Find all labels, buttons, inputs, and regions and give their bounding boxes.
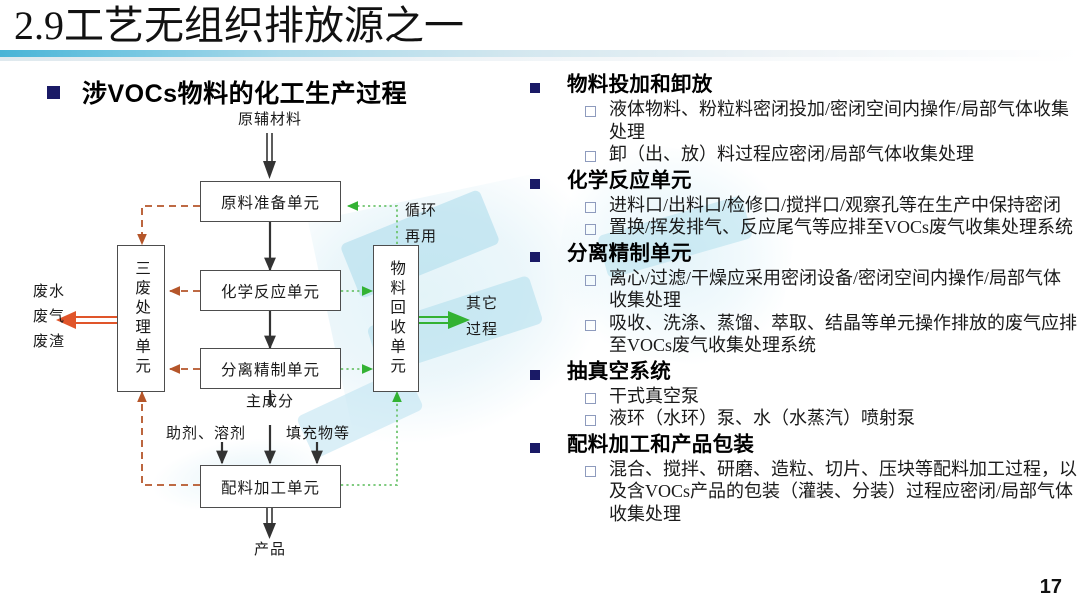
bullet-item-text: 离心/过滤/干燥应采用密闭设备/密闭空间内操作/局部气体收集处理 [609,267,1077,312]
hollow-square-bullet-icon [585,202,596,213]
title-divider [0,50,1080,57]
diagram-box-material-recovery: 物料回收单元 [373,245,419,392]
diagram-label-fillers: 填充物等 [286,425,350,443]
bullet-section-title: 化学反应单元 [567,168,1077,194]
title-divider-shadow [0,57,1080,61]
hollow-square-bullet-icon [585,151,596,162]
diagram-label-waste-residue: 废渣 [33,333,65,351]
bullet-item-text: 进料口/出料口/检修口/搅拌口/观察孔等在生产中保持密闭 [609,194,1077,217]
bullet-item-text: 液体物料、粉粒料密闭投加/密闭空间内操作/局部气体收集处理 [609,98,1077,143]
diagram-box-reaction: 化学反应单元 [200,270,341,311]
square-bullet-icon [530,252,540,262]
diagram-label-recycle-1: 循环 [405,202,437,220]
diagram-label-recycle-2: 再用 [405,228,437,246]
bullet-item: 卸（出、放）料过程应密闭/局部气体收集处理 [563,143,1077,166]
hollow-square-bullet-icon [585,320,596,331]
bullet-item: 置换/挥发排气、反应尾气等应排至VOCs废气收集处理系统 [563,216,1077,239]
diagram-box-separation: 分离精制单元 [200,348,341,389]
square-bullet-icon [530,370,540,380]
bullet-item-text: 混合、搅拌、研磨、造粒、切片、压块等配料加工过程，以及含VOCs产品的包装（灌装… [609,458,1077,526]
hollow-square-bullet-icon [585,275,596,286]
bullet-item-text: 干式真空泵 [609,385,1077,408]
diagram-box-formulation: 配料加工单元 [200,465,341,508]
bullet-item-text: 置换/挥发排气、反应尾气等应排至VOCs废气收集处理系统 [609,216,1077,239]
diagram-box-waste-treatment: 三废处理单元 [117,245,165,392]
diagram-label-waste-gas: 废气 [33,308,65,326]
hollow-square-bullet-icon [585,466,596,477]
diagram-label-input-materials: 原辅材料 [229,111,311,129]
diagram-label-waste-water: 废水 [33,283,65,301]
process-flow-diagram: 原料准备单元 化学反应单元 分离精制单元 配料加工单元 三废处理单元 物料回收单… [0,105,515,575]
slide-root: 2.9工艺无组织排放源之一 涉VOCs物料的化工生产过程 [0,0,1080,607]
bullet-section-2: 化学反应单元 [519,168,1077,194]
hollow-square-bullet-icon [585,415,596,426]
bullet-section-title: 物料投加和卸放 [567,72,1077,98]
diagram-label-product: 产品 [240,541,300,559]
bullet-section-4: 抽真空系统 [519,359,1077,385]
bullet-item-text: 液环（水环）泵、水（水蒸汽）喷射泵 [609,407,1077,430]
bullet-section-title: 分离精制单元 [567,241,1077,267]
bullet-section-5: 配料加工和产品包装 [519,432,1077,458]
bullet-item: 液环（水环）泵、水（水蒸汽）喷射泵 [563,407,1077,430]
bullet-list: 物料投加和卸放 液体物料、粉粒料密闭投加/密闭空间内操作/局部气体收集处理 卸（… [519,70,1077,525]
bullet-section-title: 配料加工和产品包装 [567,432,1077,458]
hollow-square-bullet-icon [585,224,596,235]
bullet-item: 混合、搅拌、研磨、造粒、切片、压块等配料加工过程，以及含VOCs产品的包装（灌装… [563,458,1077,526]
bullet-item-text: 吸收、洗涤、蒸馏、萃取、结晶等单元操作排放的废气应排至VOCs废气收集处理系统 [609,312,1077,357]
bullet-section-3: 分离精制单元 [519,241,1077,267]
bullet-item: 吸收、洗涤、蒸馏、萃取、结晶等单元操作排放的废气应排至VOCs废气收集处理系统 [563,312,1077,357]
bullet-section-title: 抽真空系统 [567,359,1077,385]
page-number: 17 [1040,576,1062,599]
square-bullet-icon [47,86,60,99]
bullet-item: 干式真空泵 [563,385,1077,408]
bullet-item: 进料口/出料口/检修口/搅拌口/观察孔等在生产中保持密闭 [563,194,1077,217]
hollow-square-bullet-icon [585,393,596,404]
bullet-section-1: 物料投加和卸放 [519,72,1077,98]
diagram-label-other-1: 其它 [466,295,498,313]
diagram-label-additives: 助剂、溶剂 [166,425,246,443]
bullet-item: 液体物料、粉粒料密闭投加/密闭空间内操作/局部气体收集处理 [563,98,1077,143]
diagram-label-other-2: 过程 [466,321,498,339]
bullet-item-text: 卸（出、放）料过程应密闭/局部气体收集处理 [609,143,1077,166]
square-bullet-icon [530,179,540,189]
page-title: 2.9工艺无组织排放源之一 [14,2,464,50]
diagram-box-raw-prep: 原料准备单元 [200,181,341,222]
hollow-square-bullet-icon [585,106,596,117]
diagram-label-main-component: 主成分 [238,393,302,411]
square-bullet-icon [530,443,540,453]
square-bullet-icon [530,83,540,93]
bullet-item: 离心/过滤/干燥应采用密闭设备/密闭空间内操作/局部气体收集处理 [563,267,1077,312]
